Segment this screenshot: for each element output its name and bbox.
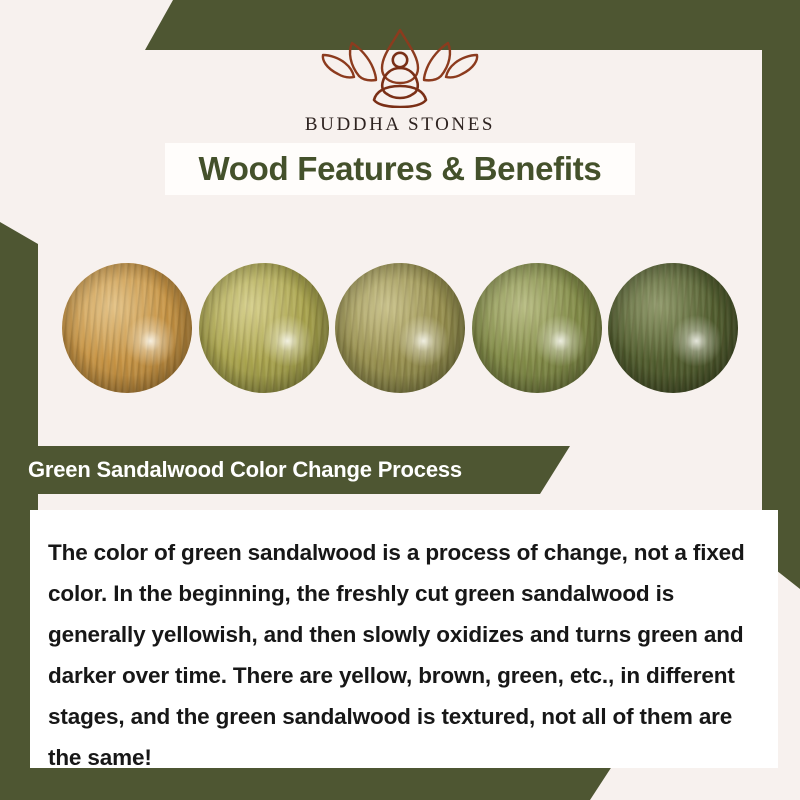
bead-stage-1-yellow-brown <box>62 263 192 393</box>
bead-shading <box>62 263 192 393</box>
lotus-meditation-icon <box>312 22 488 108</box>
bead-shading <box>199 263 329 393</box>
brand-logo-block: BUDDHA STONES <box>0 22 800 136</box>
bead-stage-5-dark-green <box>608 263 738 393</box>
section-body-card: The color of green sandalwood is a proce… <box>30 510 778 768</box>
page-title: Wood Features & Benefits <box>199 150 602 188</box>
bead-color-stages <box>38 248 762 408</box>
bead-stage-3-olive <box>335 263 465 393</box>
section-banner-title: Green Sandalwood Color Change Process <box>0 457 462 483</box>
bead-shading <box>608 263 738 393</box>
infographic-page: BUDDHA STONES Wood Features & Benefits G… <box>0 0 800 800</box>
section-banner: Green Sandalwood Color Change Process <box>0 446 570 494</box>
bead-stage-4-green <box>472 263 602 393</box>
section-body-text: The color of green sandalwood is a proce… <box>48 532 748 778</box>
brand-name: BUDDHA STONES <box>305 114 495 136</box>
bead-shading <box>335 263 465 393</box>
bead-stage-2-yellow-green <box>199 263 329 393</box>
bead-shading <box>472 263 602 393</box>
page-title-box: Wood Features & Benefits <box>165 143 635 195</box>
